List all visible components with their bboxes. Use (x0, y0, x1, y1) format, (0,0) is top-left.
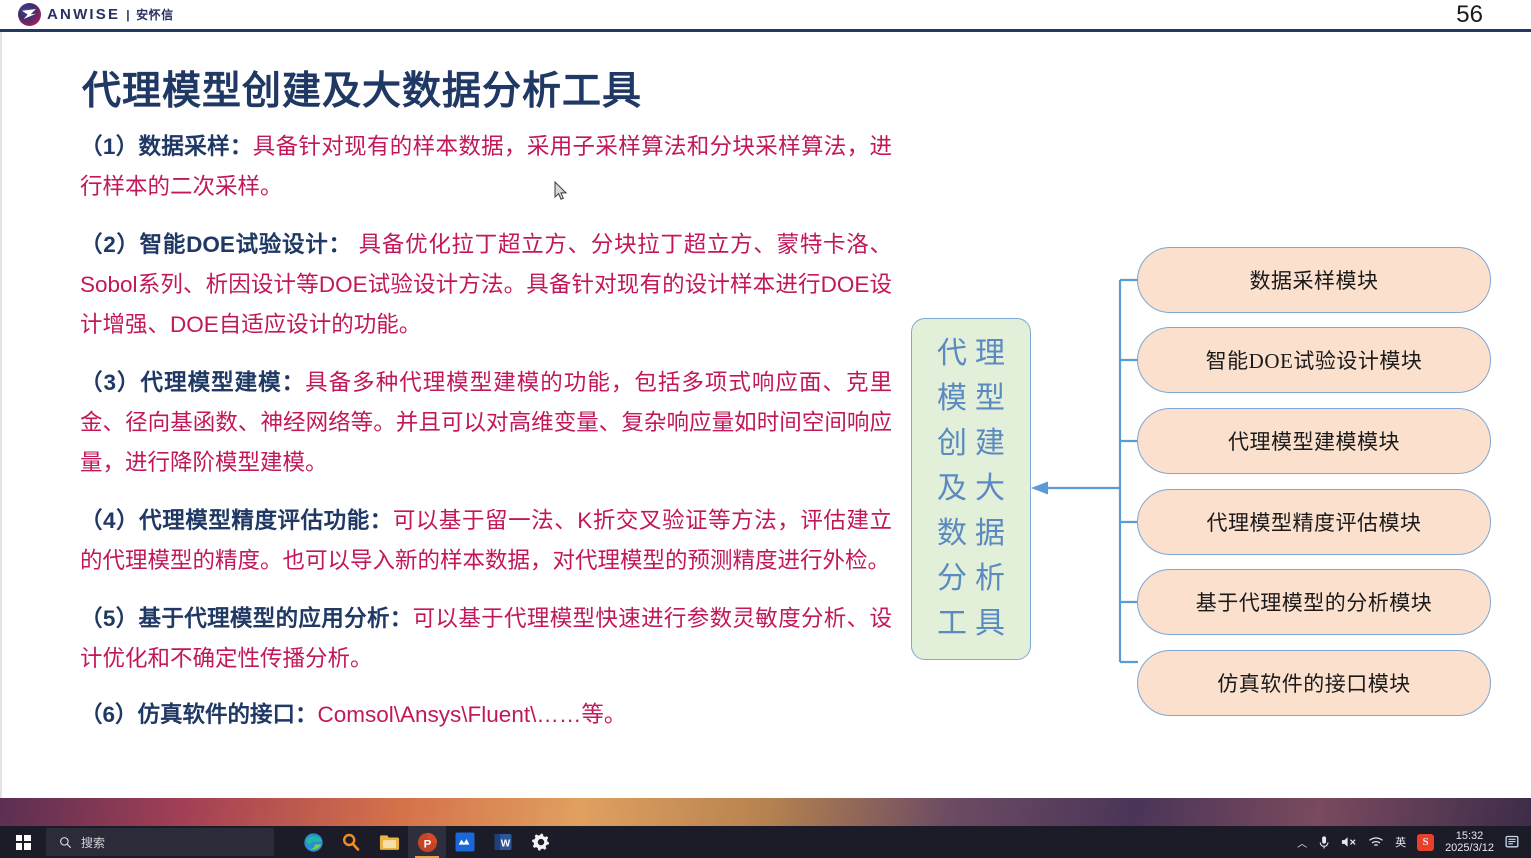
speaker-muted-icon[interactable] (1341, 835, 1357, 849)
bullet-list: （1）数据采样：具备针对现有的样本数据，采用子采样算法和分块采样算法，进行样本的… (80, 127, 892, 753)
bullet-item-5: （5）基于代理模型的应用分析：可以基于代理模型快速进行参数灵敏度分析、设计优化和… (80, 599, 892, 679)
desktop-wallpaper (0, 798, 1531, 826)
module-label-1: 数据采样模块 (1250, 265, 1379, 295)
bullet-item-2: （2）智能DOE试验设计： 具备优化拉丁超立方、分块拉丁超立方、蒙特卡洛、Sob… (80, 225, 892, 345)
bullet-item-3: （3）代理模型建模：具备多种代理模型建模的功能，包括多项式响应面、克里金、径向基… (80, 363, 892, 483)
module-node-1[interactable]: 数据采样模块 (1137, 247, 1491, 313)
wps-icon (455, 832, 475, 852)
taskbar-search-box[interactable]: 搜索 (46, 828, 274, 856)
slide-body: 代理模型创建及大数据分析工具 （1）数据采样：具备针对现有的样本数据，采用子采样… (0, 32, 1531, 798)
module-label-6: 仿真软件的接口模块 (1217, 668, 1411, 698)
file-explorer-icon (379, 833, 400, 852)
bullet-lead-3: （3）代理模型建模： (80, 370, 305, 395)
hub-char-6: 建 (975, 422, 1005, 466)
mouse-cursor (554, 181, 568, 201)
ime-language-indicator[interactable]: 英 (1395, 834, 1406, 850)
hub-char-11: 分 (937, 557, 967, 601)
taskbar-settings-button[interactable] (522, 826, 560, 858)
hub-char-13: 工 (937, 602, 967, 646)
module-node-3[interactable]: 代理模型建模模块 (1137, 408, 1491, 474)
anwise-logo-icon (18, 3, 41, 26)
wifi-icon[interactable] (1368, 836, 1384, 849)
taskbar-wps-button[interactable] (446, 826, 484, 858)
module-node-6[interactable]: 仿真软件的接口模块 (1137, 650, 1491, 716)
module-label-2: 智能DOE试验设计模块 (1206, 345, 1423, 375)
clock-time: 15:32 (1445, 830, 1494, 842)
module-label-4: 代理模型精度评估模块 (1207, 507, 1422, 537)
taskbar-app-list: P W (294, 826, 560, 858)
sogou-input-icon[interactable]: S (1417, 834, 1434, 851)
hub-char-2: 理 (975, 332, 1005, 376)
search-magnifier-icon (341, 832, 361, 852)
module-label-5: 基于代理模型的分析模块 (1196, 587, 1433, 617)
hub-char-4: 型 (975, 377, 1005, 421)
start-button[interactable] (0, 826, 46, 858)
windows-logo-icon (16, 835, 31, 850)
system-tray: ︿ 英 S 15:32 2025/3/12 (1297, 826, 1531, 858)
logo-wordmark: ANWISE (47, 6, 120, 23)
bullet-lead-4: （4）代理模型精度评估功能： (80, 508, 393, 533)
word-icon: W (493, 832, 513, 852)
taskbar-search-app-button[interactable] (332, 826, 370, 858)
edge-icon (303, 832, 324, 853)
hub-char-1: 代 (937, 332, 967, 376)
hub-char-3: 模 (937, 377, 967, 421)
bullet-item-4: （4）代理模型精度评估功能：可以基于留一法、K折交叉验证等方法，评估建立的代理模… (80, 501, 892, 581)
logo-chinese-name: 安怀信 (136, 6, 174, 23)
architecture-diagram: 代 理 模 型 创 建 及 大 数 据 分 析 工 具 数据采样模块 (902, 212, 1522, 732)
taskbar-file-explorer-button[interactable] (370, 826, 408, 858)
bullet-lead-6: （6）仿真软件的接口： (80, 702, 318, 727)
bullet-lead-1: （1）数据采样： (80, 134, 253, 159)
hub-char-10: 据 (975, 512, 1005, 556)
taskbar-edge-button[interactable] (294, 826, 332, 858)
module-node-2[interactable]: 智能DOE试验设计模块 (1137, 327, 1491, 393)
module-node-4[interactable]: 代理模型精度评估模块 (1137, 489, 1491, 555)
slide-header: ANWISE | 安怀信 56 (0, 0, 1531, 30)
taskbar-search-placeholder: 搜索 (81, 834, 105, 851)
hub-char-14: 具 (975, 602, 1005, 646)
notification-center-icon[interactable] (1505, 835, 1521, 850)
hub-char-12: 析 (975, 557, 1005, 601)
hub-char-9: 数 (937, 512, 967, 556)
logo-divider: | (126, 8, 130, 22)
hub-node[interactable]: 代 理 模 型 创 建 及 大 数 据 分 析 工 具 (911, 318, 1031, 660)
bullet-lead-5: （5）基于代理模型的应用分析： (80, 606, 413, 631)
module-node-5[interactable]: 基于代理模型的分析模块 (1137, 569, 1491, 635)
microphone-icon[interactable] (1318, 835, 1330, 850)
windows-taskbar: 搜索 (0, 826, 1531, 858)
hub-node-label: 代 理 模 型 创 建 及 大 数 据 分 析 工 具 (927, 326, 1015, 652)
hub-char-7: 及 (937, 467, 967, 511)
screen: ANWISE | 安怀信 56 代理模型创建及大数据分析工具 （1）数据采样：具… (0, 0, 1531, 858)
bullet-lead-2: （2）智能DOE试验设计： (80, 232, 352, 257)
bullet-item-1: （1）数据采样：具备针对现有的样本数据，采用子采样算法和分块采样算法，进行样本的… (80, 127, 892, 207)
tray-overflow-chevron-icon[interactable]: ︿ (1297, 835, 1307, 850)
page-number: 56 (1456, 1, 1483, 29)
module-label-3: 代理模型建模模块 (1228, 426, 1400, 456)
bullet-body-6: Comsol\Ansys\Fluent\……等。 (318, 702, 627, 727)
powerpoint-icon: P (417, 832, 438, 853)
search-icon (59, 836, 72, 849)
bullet-item-6: （6）仿真软件的接口：Comsol\Ansys\Fluent\……等。 (80, 695, 892, 735)
hub-char-8: 大 (975, 467, 1005, 511)
clock-date: 2025/3/12 (1445, 842, 1494, 854)
settings-gear-icon (531, 832, 551, 852)
clock[interactable]: 15:32 2025/3/12 (1445, 830, 1494, 854)
hub-char-5: 创 (937, 422, 967, 466)
svg-text:W: W (501, 839, 511, 850)
taskbar-powerpoint-button[interactable]: P (408, 826, 446, 858)
page-title: 代理模型创建及大数据分析工具 (82, 60, 642, 116)
svg-text:P: P (423, 838, 431, 850)
taskbar-word-button[interactable]: W (484, 826, 522, 858)
anwise-logo: ANWISE | 安怀信 (18, 3, 174, 26)
